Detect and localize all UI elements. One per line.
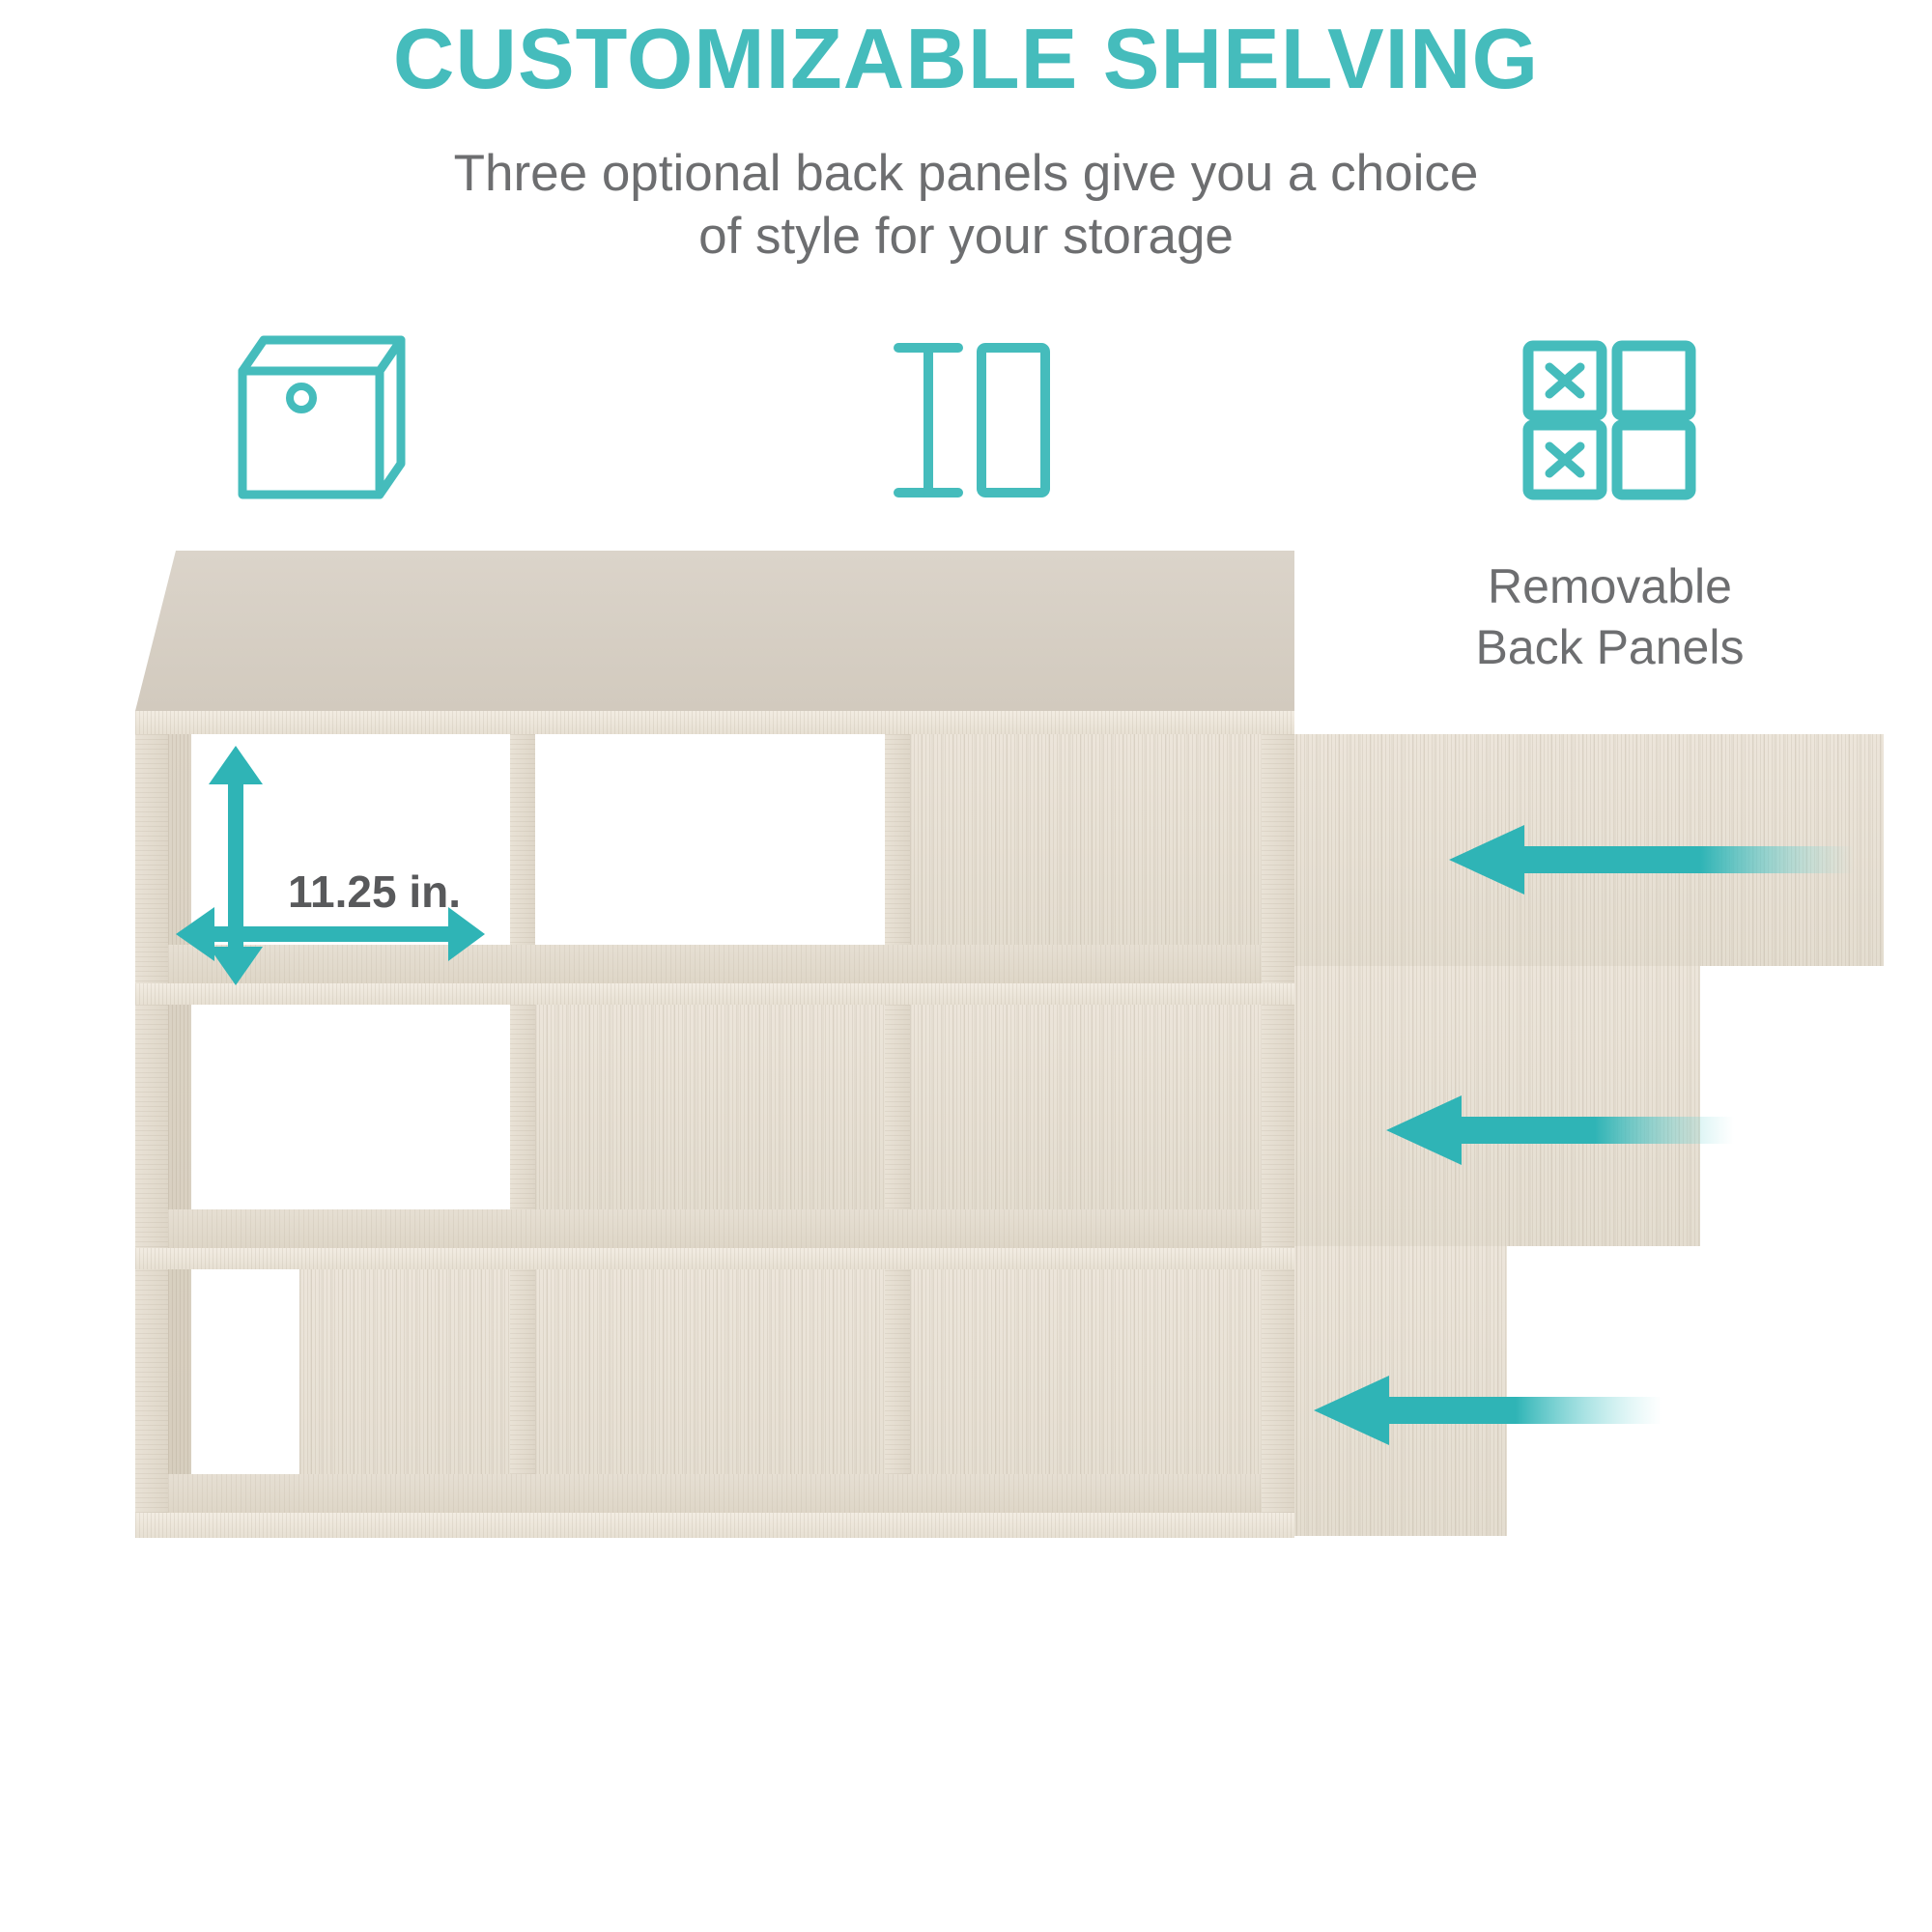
shelf-board-2-edge	[135, 1248, 1294, 1269]
product-illustration: 11.25 in.	[0, 676, 1932, 1932]
panel-arrow-bottom	[1314, 1372, 1662, 1449]
shelf-top-surface	[135, 551, 1294, 734]
shelf-divider-2	[885, 734, 910, 1536]
shelf-bottom-edge	[135, 1513, 1294, 1538]
feature-removable-back-panels: Removable Back Panels	[1288, 319, 1932, 678]
cube-dimension-label: 11.25 in.	[288, 866, 461, 918]
feature-label-3-line-1: Removable	[1476, 556, 1745, 617]
removable-panels-grid-icon	[1513, 319, 1706, 512]
shelf-board-2-surface	[168, 1209, 1262, 1248]
cube-back-r2c3	[910, 1003, 1262, 1209]
cube-back-r2c2	[535, 1003, 885, 1209]
height-measure-icon	[869, 319, 1063, 512]
subtitle-line-2: of style for your storage	[0, 206, 1932, 269]
feature-label-3: Removable Back Panels	[1476, 556, 1745, 678]
panel-arrow-top	[1449, 821, 1855, 898]
shelf-top-edge	[135, 711, 1294, 734]
shelf-left-side-panel	[135, 734, 168, 1536]
shelf-right-side-panel	[1262, 734, 1294, 1536]
cube-back-r1c3	[910, 734, 1262, 945]
shelf-divider-1	[510, 734, 535, 1536]
page-title: CUSTOMIZABLE SHELVING	[0, 14, 1932, 103]
page-subtitle: Three optional back panels give you a ch…	[0, 143, 1932, 268]
feature-label-3-line-2: Back Panels	[1476, 617, 1745, 678]
subtitle-line-1: Three optional back panels give you a ch…	[0, 143, 1932, 206]
infographic-page: CUSTOMIZABLE SHELVING Three optional bac…	[0, 0, 1932, 1932]
shelf-bottom-surface	[168, 1474, 1262, 1513]
storage-basket-cube-icon	[225, 319, 418, 512]
panel-arrow-middle	[1386, 1092, 1734, 1169]
